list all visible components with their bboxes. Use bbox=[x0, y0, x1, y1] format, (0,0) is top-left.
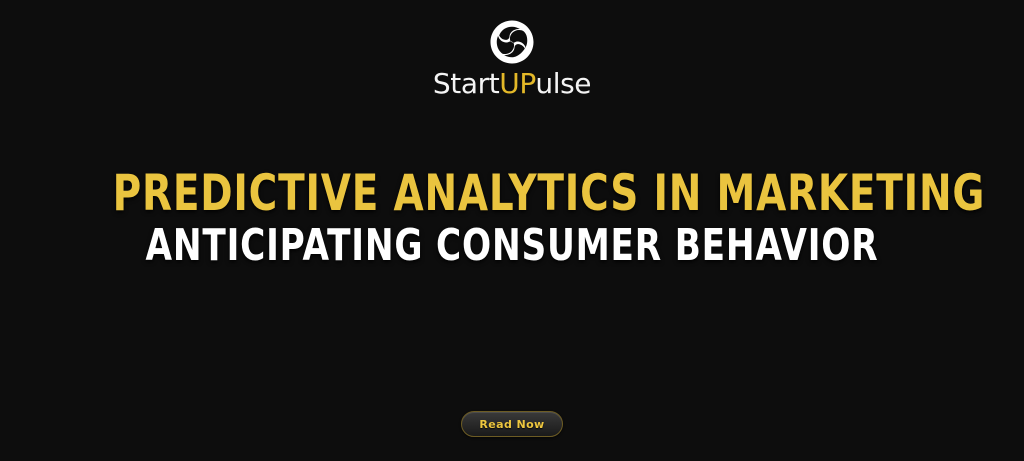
cta-container: Read Now bbox=[0, 411, 1024, 437]
wordmark-part-2: UP bbox=[499, 67, 535, 100]
presentation-slide: StartUPulse Predictive Analytics in Mark… bbox=[0, 0, 1024, 461]
headline-block: Predictive Analytics in Marketing Antici… bbox=[0, 168, 1024, 268]
wordmark-part-1: Start bbox=[433, 67, 499, 100]
read-now-button[interactable]: Read Now bbox=[461, 411, 562, 437]
read-now-label: Read Now bbox=[479, 418, 544, 431]
title-secondary: Anticipating Consumer Behavior bbox=[113, 224, 912, 268]
brand-logo-block: StartUPulse bbox=[0, 18, 1024, 98]
startupulse-logo-icon bbox=[488, 18, 536, 66]
wordmark-part-3: ulse bbox=[535, 67, 591, 100]
title-primary: Predictive Analytics in Marketing bbox=[113, 168, 912, 218]
brand-wordmark: StartUPulse bbox=[433, 70, 591, 98]
